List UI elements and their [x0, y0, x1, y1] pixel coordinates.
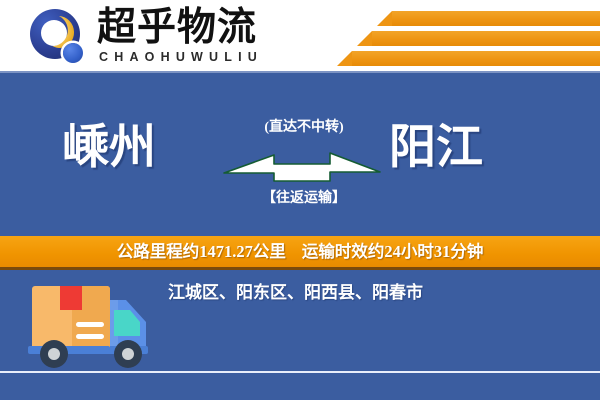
route-direct-note: (直达不中转) [249, 119, 359, 137]
route-duration-text: 运输时效约24小时31分钟 [302, 242, 484, 262]
company-name-en: CHAOHUWULIU [99, 50, 263, 64]
route-roundtrip-note: 【往返运输】 [244, 190, 364, 208]
company-logo-icon [30, 9, 86, 65]
logistics-route-banner: 超乎物流 CHAOHUWULIU 嵊州 (直达不中转) 【往返运输】 阳江 公路… [0, 0, 600, 400]
route-info-bar: 公路里程约1471.27公里 运输时效约24小时31分钟 [0, 236, 600, 270]
coverage-districts-text: 江城区、阳东区、阳西县、阳春市 [168, 282, 423, 304]
header-stripe-1 [392, 11, 600, 26]
route-destination-city: 阳江 [389, 123, 483, 173]
double-headed-arrow-icon [222, 145, 382, 185]
header-stripe-2 [372, 31, 600, 46]
logo-dot-shape [63, 43, 83, 63]
road-line [0, 371, 600, 373]
delivery-truck-icon [18, 278, 170, 374]
banner-header: 超乎物流 CHAOHUWULIU [0, 0, 600, 71]
company-name-cn: 超乎物流 [97, 6, 257, 50]
route-origin-city: 嵊州 [62, 123, 156, 173]
header-stripe-3 [352, 51, 600, 66]
route-distance-text: 公路里程约1471.27公里 [117, 242, 286, 262]
